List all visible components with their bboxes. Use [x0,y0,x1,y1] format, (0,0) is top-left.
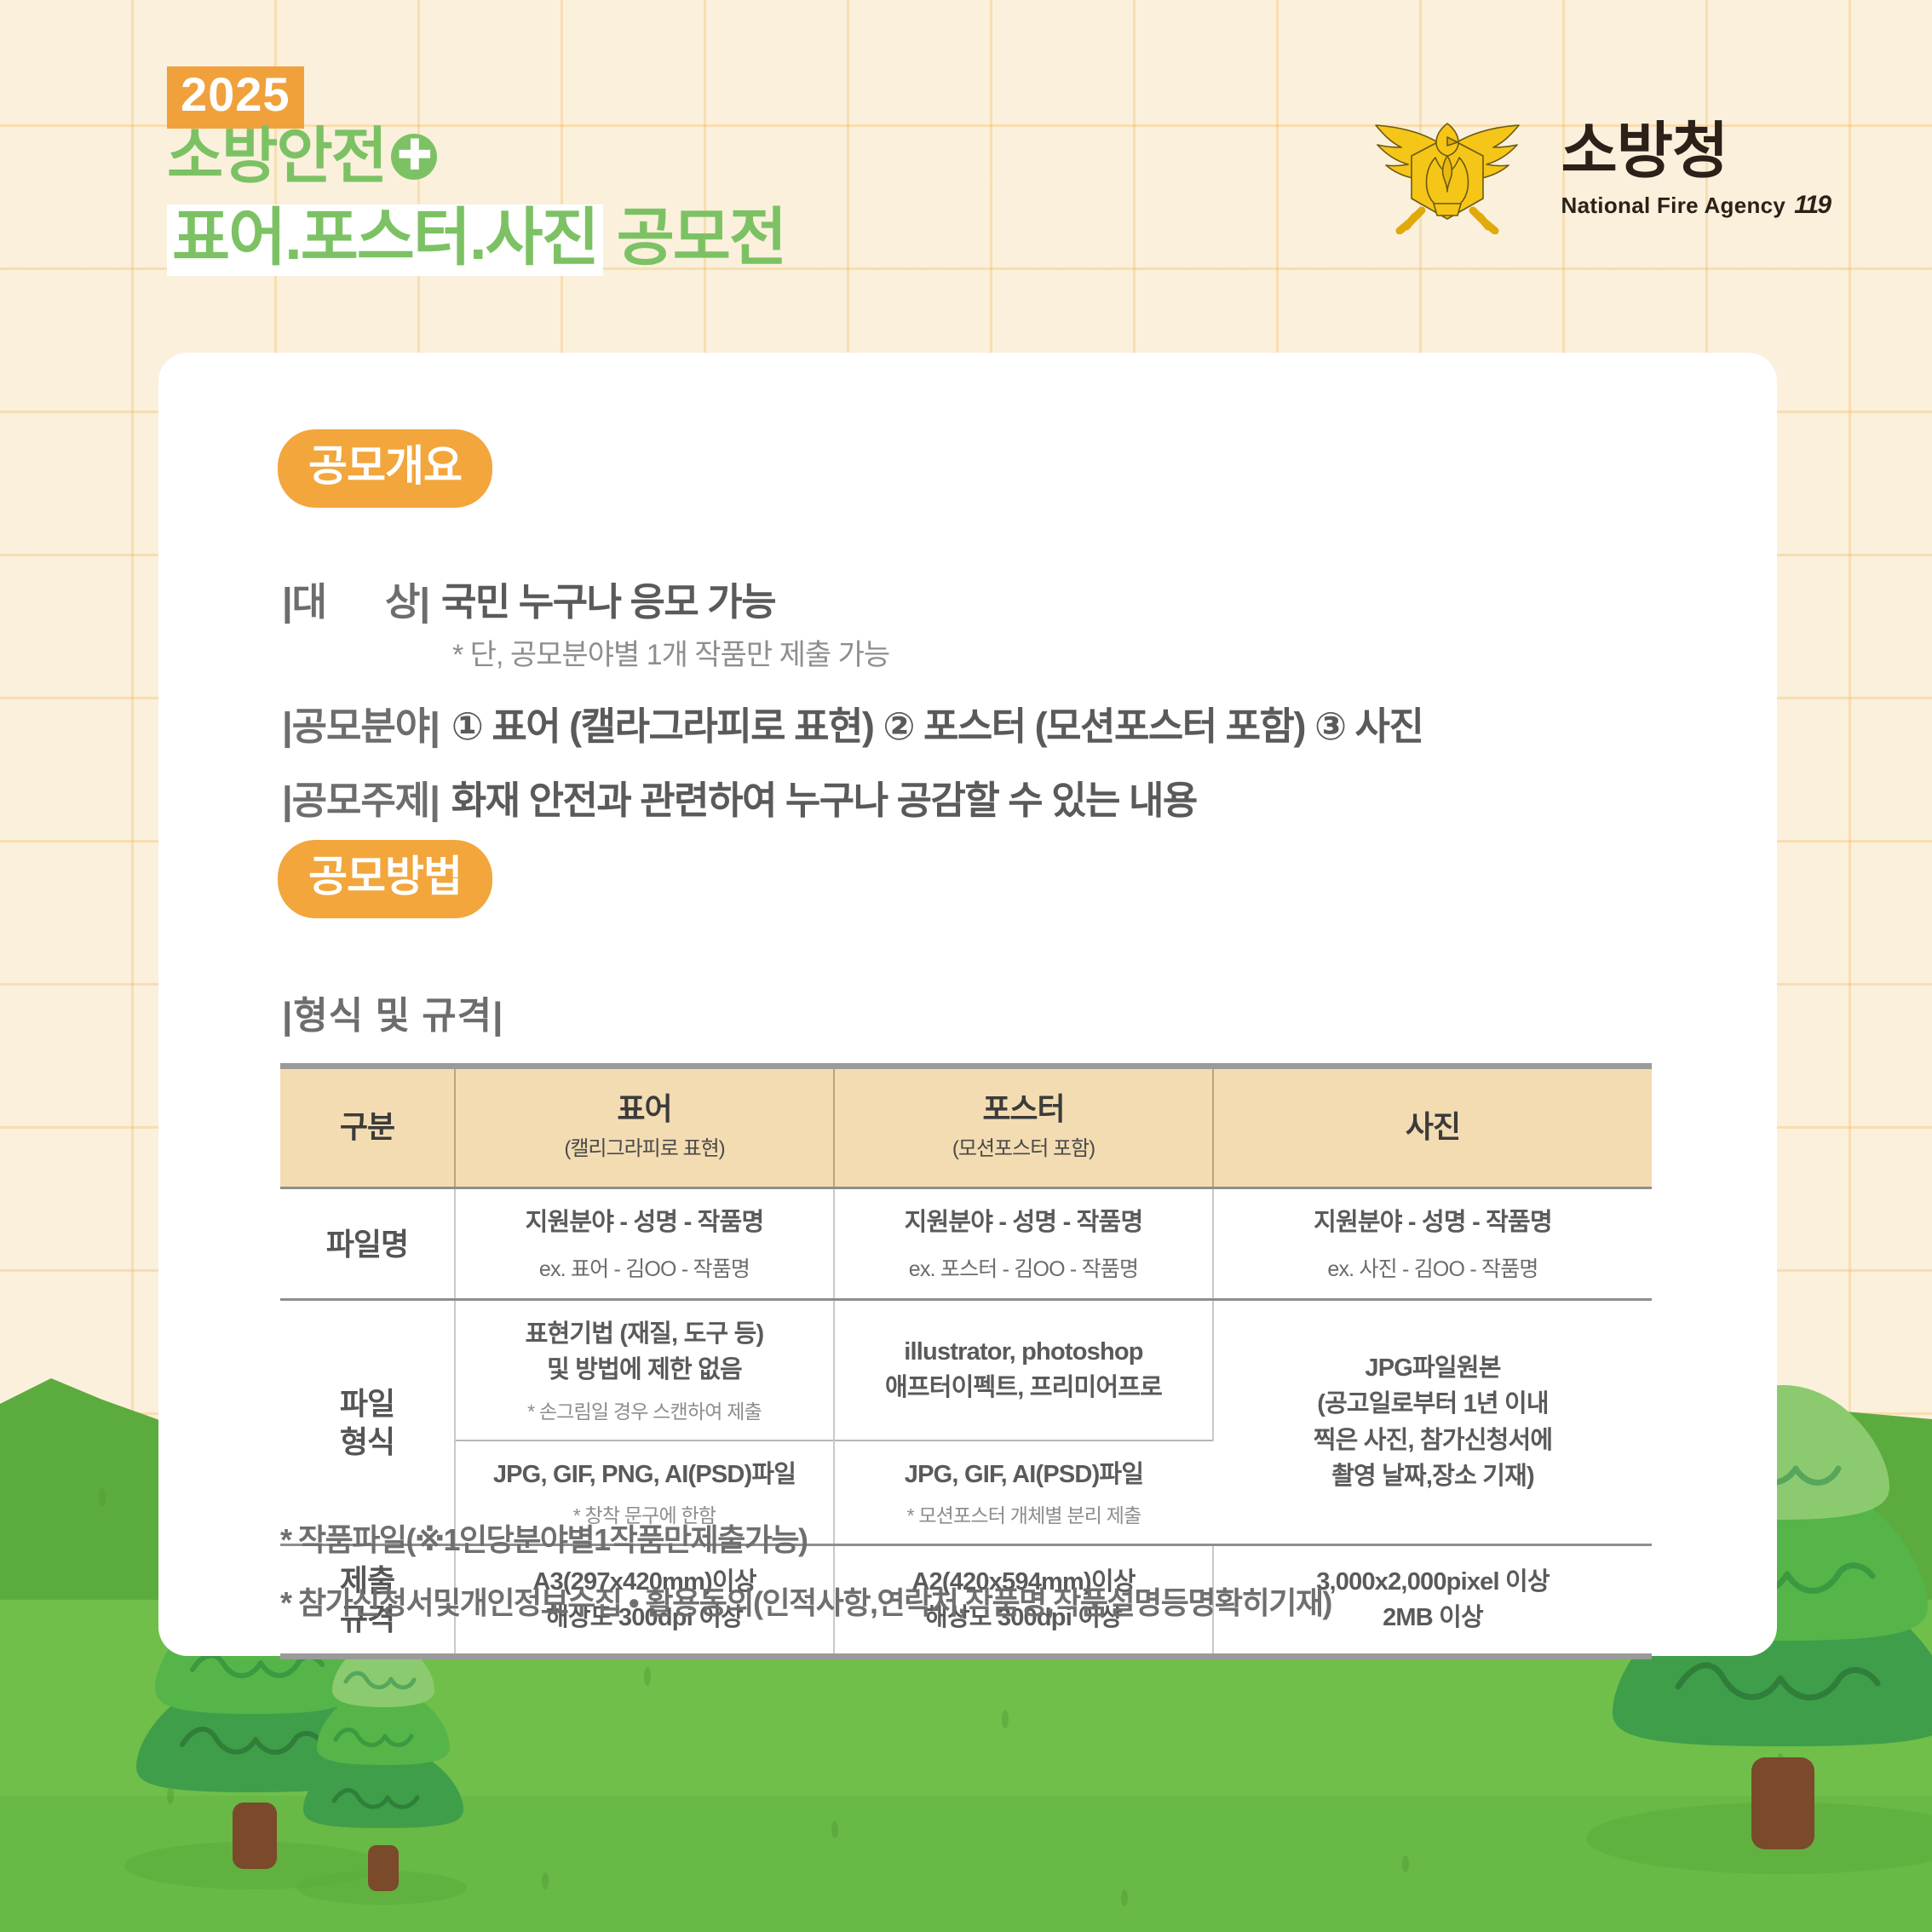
fire-agency-eagle-emblem-icon [1362,106,1532,234]
overview-note-target: * 단, 공모분야별 1개 작품만 제출 가능 [452,631,1730,673]
th-main-division: 구분 [285,1109,449,1144]
table-header-poster: 포스터 (모션포스터 포함) [834,1067,1213,1188]
cell-fileformat-slogan-a: 표현기법 (재질, 도구 등) 및 방법에 제한 없음 * 손그림일 경우 스캔… [455,1300,834,1440]
content-card: 공모개요 |대 상| 국민 누구나 응모 가능 * 단, 공모분야별 1개 작품… [158,353,1777,1656]
cell-filename-slogan-ex: ex. 표어 - 김OO - 작품명 [464,1252,825,1283]
rowhead-fileformat: 파일 형식 [280,1300,455,1544]
cell-fileformat-photo-main: JPG파일원본 (공고일로부터 1년 이내 찍은 사진, 참가신청서에 촬영 날… [1222,1350,1643,1493]
rowhead-filename: 파일명 [280,1188,455,1300]
agency-name-english-row: National Fire Agency 119 [1561,191,1830,220]
overview-label-target: |대 상| [282,571,429,626]
footnotes: * 작품파일(※1인당분야별1작품만제출가능) * 참가신청서및개인정보수집 •… [280,1515,1331,1642]
cell-filename-slogan-main: 지원분야 - 성명 - 작품명 [464,1205,825,1240]
year-badge: 2025 [167,66,304,129]
agency-name-english: National Fire Agency [1561,193,1786,219]
cell-fileformat-poster-a-main: illustrator, photoshop 애프터이펙트, 프리미어프로 [843,1334,1204,1406]
logo-119-icon: 119 [1794,191,1830,220]
footnote-2: * 참가신청서및개인정보수집 • 활용동의(인적사항,연락처,작품명,작품설명등… [280,1578,1331,1623]
poster-header: 2025 소방안전 ✚ 표어.포스터.사진 공모전 [0,0,1932,281]
cell-fileformat-slogan-a-sub: * 손그림일 경우 스캔하여 제출 [464,1395,825,1424]
section-pill-overview: 공모개요 [278,429,492,508]
overview-value-target: 국민 누구나 응모 가능 [441,571,775,626]
overview-row-target: |대 상| 국민 누구나 응모 가능 [282,571,1730,626]
table-row-filename: 파일명 지원분야 - 성명 - 작품명 ex. 표어 - 김OO - 작품명 지… [280,1188,1652,1300]
cell-filename-poster: 지원분야 - 성명 - 작품명 ex. 포스터 - 김OO - 작품명 [834,1188,1213,1300]
cell-fileformat-slogan-a-main: 표현기법 (재질, 도구 등) 및 방법에 제한 없음 [464,1316,825,1388]
footnote-1: * 작품파일(※1인당분야별1작품만제출가능) [280,1515,1331,1560]
cell-fileformat-poster-a: illustrator, photoshop 애프터이펙트, 프리미어프로 [834,1300,1213,1440]
title-line-2-plain: 공모전 [603,206,785,269]
title-line-1: 소방안전 ✚ [167,126,437,187]
cell-fileformat-photo: JPG파일원본 (공고일로부터 1년 이내 찍은 사진, 참가신청서에 촬영 날… [1213,1300,1652,1544]
plus-icon: ✚ [391,134,437,180]
table-row-fileformat-a: 파일 형식 표현기법 (재질, 도구 등) 및 방법에 제한 없음 * 손그림일… [280,1300,1652,1440]
cell-filename-poster-ex: ex. 포스터 - 김OO - 작품명 [843,1252,1204,1283]
section-pill-method: 공모방법 [278,840,492,918]
cell-fileformat-poster-b-main: JPG, GIF, AI(PSD)파일 [843,1457,1205,1492]
cell-filename-photo-ex: ex. 사진 - 김OO - 작품명 [1222,1252,1643,1283]
title-line-2-highlight: 표어.포스터.사진 [167,204,603,276]
th-main-photo: 사진 [1219,1109,1647,1144]
agency-text-block: 소방청 National Fire Agency 119 [1561,121,1830,220]
method-subtitle: |형식 및 규격| [282,985,503,1039]
overview-row-field: |공모분야| ① 표어 (캘라그라피로 표현) ② 포스터 (모션포스터 포함)… [282,695,1730,750]
cell-filename-slogan: 지원분야 - 성명 - 작품명 ex. 표어 - 김OO - 작품명 [455,1188,834,1300]
table-header-row: 구분 표어 (캘리그라피로 표현) 포스터 (모션포스터 포함) 사진 [280,1067,1652,1188]
th-main-slogan: 표어 [461,1091,828,1126]
title-line-2: 표어.포스터.사진 공모전 [167,204,785,276]
overview-row-theme: |공모주제| 화재 안전과 관련하여 누구나 공감할 수 있는 내용 [282,769,1730,825]
overview-value-theme: 화재 안전과 관련하여 누구나 공감할 수 있는 내용 [451,769,1197,825]
overview-rows: |대 상| 국민 누구나 응모 가능 * 단, 공모분야별 1개 작품만 제출 … [282,571,1730,830]
overview-value-field: ① 표어 (캘라그라피로 표현) ② 포스터 (모션포스터 포함) ③ 사진 [451,695,1423,750]
overview-label-theme: |공모주제| [282,769,440,825]
table-header-slogan: 표어 (캘리그라피로 표현) [455,1067,834,1188]
cell-filename-photo: 지원분야 - 성명 - 작품명 ex. 사진 - 김OO - 작품명 [1213,1188,1652,1300]
table-head: 구분 표어 (캘리그라피로 표현) 포스터 (모션포스터 포함) 사진 [280,1067,1652,1188]
poster-root: 2025 소방안전 ✚ 표어.포스터.사진 공모전 [0,0,1932,1932]
cell-fileformat-slogan-b-main: JPG, GIF, PNG, AI(PSD)파일 [464,1457,825,1492]
cell-filename-photo-main: 지원분야 - 성명 - 작품명 [1222,1205,1643,1240]
table-header-division: 구분 [280,1067,455,1188]
th-sub-poster: (모션포스터 포함) [840,1131,1207,1161]
th-main-poster: 포스터 [840,1091,1207,1126]
table-header-photo: 사진 [1213,1067,1652,1188]
title-line-1-text: 소방안전 [167,126,386,187]
cell-filename-poster-main: 지원분야 - 성명 - 작품명 [843,1205,1204,1240]
th-sub-slogan: (캘리그라피로 표현) [461,1131,828,1161]
overview-label-field: |공모분야| [282,695,440,750]
agency-logo: 소방청 National Fire Agency 119 [1362,106,1830,234]
agency-name-korean: 소방청 [1561,121,1728,182]
